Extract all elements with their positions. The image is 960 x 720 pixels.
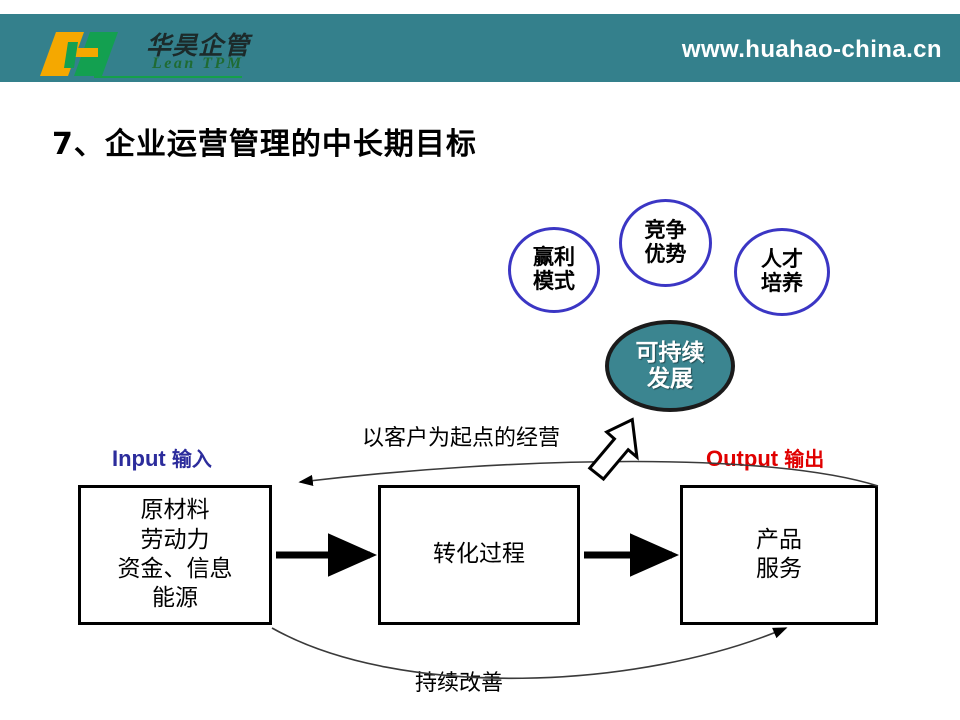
flow-box-input-line3: 资金、信息	[118, 555, 233, 584]
flow-box-output-line1: 产品	[756, 526, 802, 555]
input-label: Input 输入	[112, 443, 212, 472]
output-label-en: Output	[706, 446, 778, 471]
bottom-curve-label: 持续改善	[415, 665, 503, 697]
site-url: www.huahao-china.cn	[682, 36, 942, 64]
logo-tagline: Lean TPM	[152, 55, 244, 73]
flow-box-input: 原材料 劳动力 资金、信息 能源	[78, 485, 272, 625]
top-curve-label: 以客户为起点的经营	[362, 420, 560, 452]
goal-talent-line2: 培养	[761, 272, 803, 296]
output-label: Output 输出	[706, 443, 824, 472]
goal-profit-line1: 赢利	[533, 246, 575, 270]
core-line1: 可持续	[636, 340, 705, 366]
logo-underline	[94, 76, 242, 78]
flow-box-input-line2: 劳动力	[141, 526, 210, 555]
page-title: 7、企业运营管理的中长期目标	[52, 119, 477, 163]
goal-circle-competitive-advantage: 竞争 优势	[619, 199, 712, 287]
flow-box-input-line1: 原材料	[141, 496, 210, 525]
goal-talent-line1: 人才	[761, 248, 803, 272]
core-line2: 发展	[647, 366, 693, 392]
goal-circle-profit-model: 赢利 模式	[508, 227, 600, 313]
flow-box-process-line1: 转化过程	[433, 540, 525, 569]
flow-box-input-line4: 能源	[152, 584, 198, 613]
goal-profit-line2: 模式	[533, 270, 575, 294]
flow-box-output: 产品 服务	[680, 485, 878, 625]
hh-monogram-icon	[34, 28, 146, 80]
flow-box-output-line2: 服务	[756, 555, 802, 584]
goal-compete-line2: 优势	[645, 243, 687, 267]
company-logo: 华昊企管 Lean TPM	[34, 24, 240, 86]
curve-continuous-improvement	[272, 628, 786, 678]
goal-compete-line1: 竞争	[645, 219, 687, 243]
flow-box-process: 转化过程	[378, 485, 580, 625]
core-circle-sustainable-development: 可持续 发展	[605, 320, 735, 412]
input-label-cn: 输入	[172, 447, 212, 471]
output-label-cn: 输出	[784, 447, 824, 471]
hollow-up-arrow-icon	[588, 412, 650, 488]
input-label-en: Input	[112, 446, 166, 471]
goal-circle-talent-development: 人才 培养	[734, 228, 830, 316]
